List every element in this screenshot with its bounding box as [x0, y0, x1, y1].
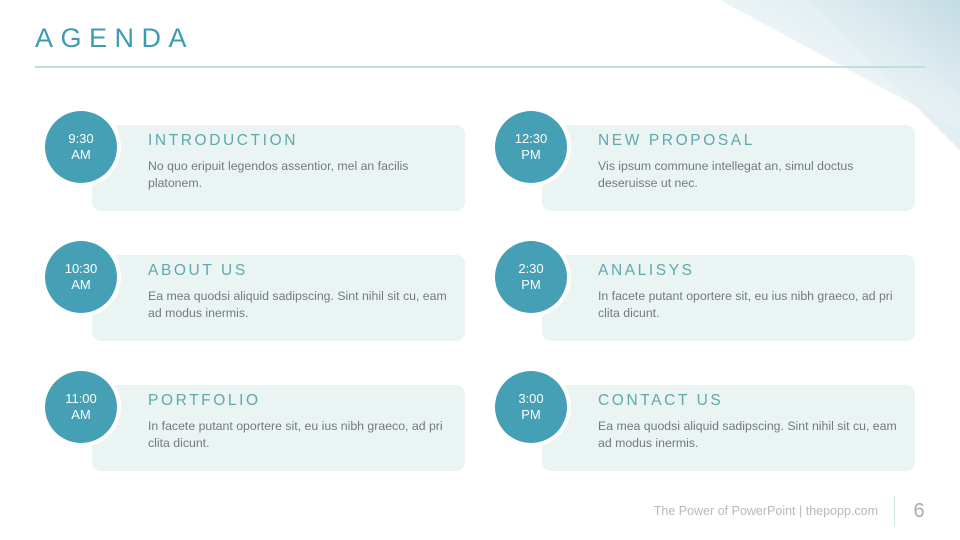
agenda-item[interactable]: 10:30 AM ABOUT US Ea mea quodsi aliquid … [45, 238, 485, 348]
agenda-item-heading: CONTACT US [598, 392, 908, 411]
agenda-item-heading: ANALISYS [598, 262, 908, 281]
page-number: 6 [913, 500, 925, 523]
agenda-item-time: 12:30 [515, 131, 548, 147]
agenda-item-period: PM [521, 407, 541, 423]
agenda-item[interactable]: 9:30 AM INTRODUCTION No quo eripuit lege… [45, 108, 485, 218]
agenda-list: 9:30 AM INTRODUCTION No quo eripuit lege… [0, 108, 960, 498]
agenda-item-time: 11:00 [65, 391, 97, 407]
agenda-item-time-badge: 2:30 PM [495, 241, 567, 313]
agenda-item-description: Vis ipsum commune intellegat an, simul d… [598, 158, 908, 192]
agenda-item-heading: INTRODUCTION [148, 132, 458, 151]
agenda-item-time-badge: 11:00 AM [45, 371, 117, 443]
footer-divider [894, 496, 895, 526]
title-divider [35, 66, 925, 68]
agenda-item-time-badge: 12:30 PM [495, 111, 567, 183]
agenda-item-period: AM [71, 407, 91, 423]
agenda-item-description: In facete putant oportere sit, eu ius ni… [598, 288, 908, 322]
footer-credit: The Power of PowerPoint | thepopp.com [654, 504, 878, 518]
agenda-item-time: 10:30 [65, 261, 98, 277]
agenda-item[interactable]: 12:30 PM NEW PROPOSAL Vis ipsum commune … [495, 108, 935, 218]
agenda-item-period: AM [71, 147, 91, 163]
agenda-row: 11:00 AM PORTFOLIO In facete putant opor… [0, 368, 960, 498]
agenda-item-body: PORTFOLIO In facete putant oportere sit,… [148, 392, 458, 452]
agenda-item-description: Ea mea quodsi aliquid sadipscing. Sint n… [148, 288, 458, 322]
agenda-item-heading: NEW PROPOSAL [598, 132, 908, 151]
agenda-item-time: 9:30 [68, 131, 93, 147]
agenda-item-description: No quo eripuit legendos assentior, mel a… [148, 158, 458, 192]
agenda-item-heading: ABOUT US [148, 262, 458, 281]
agenda-item[interactable]: 2:30 PM ANALISYS In facete putant oporte… [495, 238, 935, 348]
agenda-item-heading: PORTFOLIO [148, 392, 458, 411]
agenda-item-time-badge: 10:30 AM [45, 241, 117, 313]
agenda-item-body: ABOUT US Ea mea quodsi aliquid sadipscin… [148, 262, 458, 322]
agenda-item-body: CONTACT US Ea mea quodsi aliquid sadipsc… [598, 392, 908, 452]
agenda-item-period: PM [521, 277, 541, 293]
page-title: AGENDA [35, 22, 194, 54]
agenda-item-time-badge: 3:00 PM [495, 371, 567, 443]
agenda-item-period: AM [71, 277, 91, 293]
agenda-row: 10:30 AM ABOUT US Ea mea quodsi aliquid … [0, 238, 960, 368]
agenda-item-description: Ea mea quodsi aliquid sadipscing. Sint n… [598, 418, 908, 452]
agenda-item-period: PM [521, 147, 541, 163]
agenda-item-body: INTRODUCTION No quo eripuit legendos ass… [148, 132, 458, 192]
slide: AGENDA 9:30 AM INTRODUCTION No quo eripu… [0, 0, 960, 540]
agenda-item-time: 3:00 [518, 391, 543, 407]
agenda-item-description: In facete putant oportere sit, eu ius ni… [148, 418, 458, 452]
agenda-item[interactable]: 3:00 PM CONTACT US Ea mea quodsi aliquid… [495, 368, 935, 478]
agenda-item-time-badge: 9:30 AM [45, 111, 117, 183]
agenda-item-body: NEW PROPOSAL Vis ipsum commune intellega… [598, 132, 908, 192]
agenda-item-time: 2:30 [518, 261, 543, 277]
agenda-item[interactable]: 11:00 AM PORTFOLIO In facete putant opor… [45, 368, 485, 478]
agenda-row: 9:30 AM INTRODUCTION No quo eripuit lege… [0, 108, 960, 238]
slide-footer: The Power of PowerPoint | thepopp.com 6 [654, 494, 925, 528]
agenda-item-body: ANALISYS In facete putant oportere sit, … [598, 262, 908, 322]
